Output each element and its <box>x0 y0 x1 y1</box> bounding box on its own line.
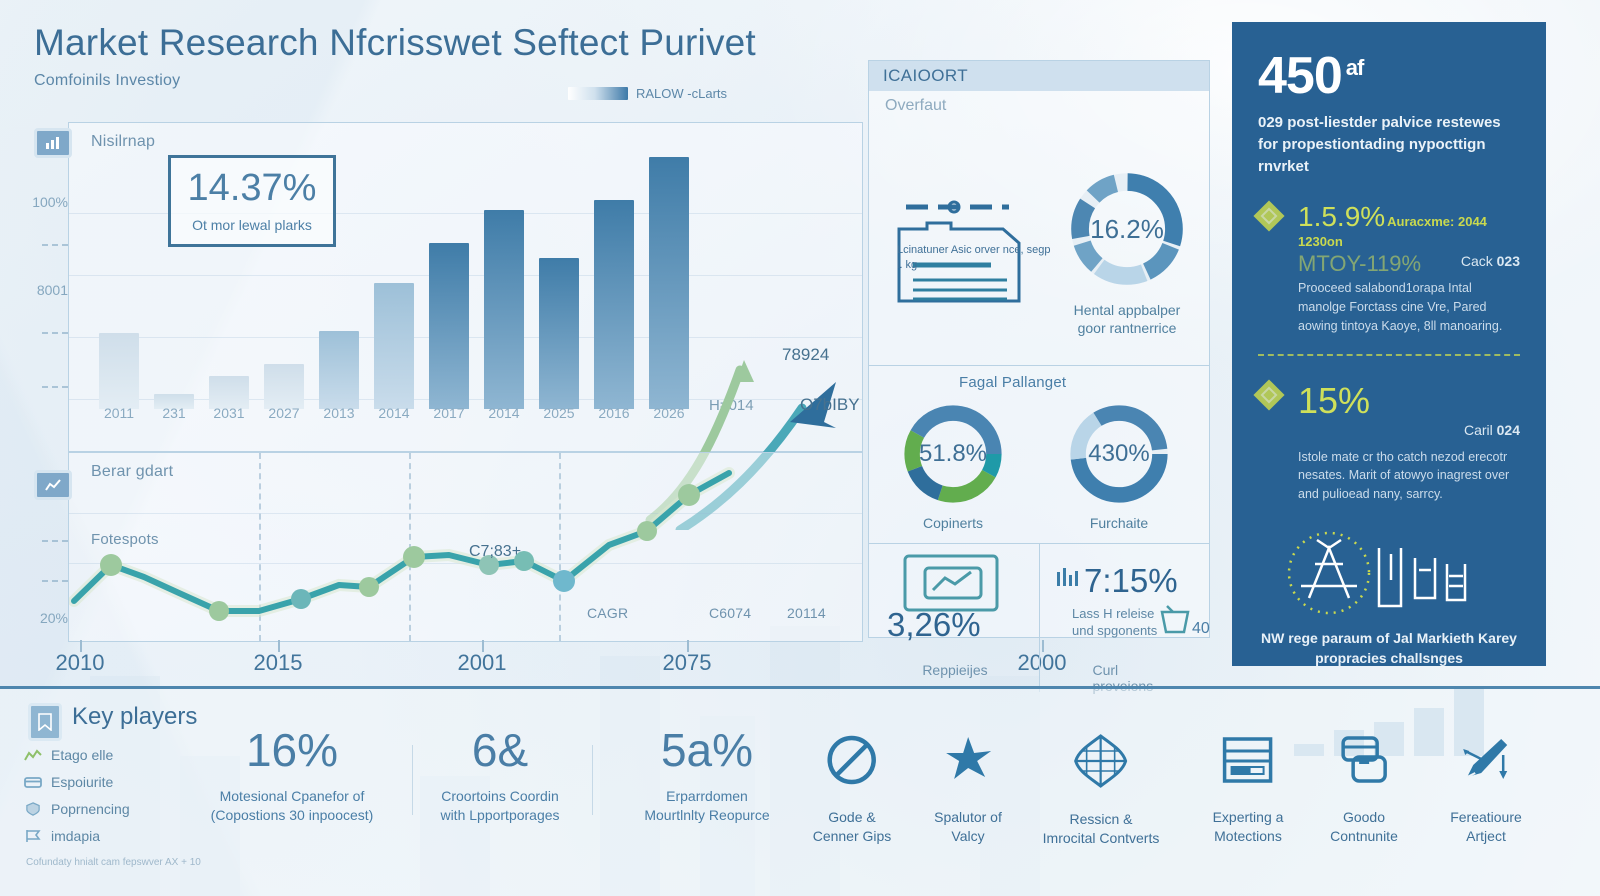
legend-gradient-swatch <box>568 87 628 100</box>
bar-item[interactable] <box>374 283 414 409</box>
donut-left-caption: Copinerts <box>923 514 983 532</box>
line-chart-panel[interactable]: Berar gdart Fotespots C7;83+ CAGR C6074 … <box>68 452 863 642</box>
y-axis-tick: 100% <box>8 194 68 210</box>
bar-x-label: 2011 <box>104 405 134 421</box>
sidebar-hero-number: 450 <box>1258 47 1342 105</box>
x-axis-label: 2001 <box>458 650 507 676</box>
icon-caption: Ressicn & Imrocital Contverts <box>1043 810 1160 848</box>
report-title: ICAIOORT <box>869 61 1209 91</box>
shield-icon <box>24 802 42 816</box>
footnote: Cofundaty hnialt cam fepswver AX + 10 <box>26 857 201 868</box>
donut-left-value: 51.8% <box>899 400 1007 508</box>
diamond-bullet-icon <box>1253 201 1284 232</box>
kpi-right-badge: 40 <box>1192 620 1210 638</box>
donut-main-value: 16.2% <box>1065 167 1189 291</box>
list-item-label: Poprnencing <box>51 801 130 817</box>
trend-icon <box>45 478 61 492</box>
y-axis-dash <box>42 540 68 542</box>
column-separator <box>592 745 593 815</box>
bar-x-label: 231 <box>162 405 185 421</box>
no-entry-icon <box>825 733 879 787</box>
star-burst-icon <box>941 733 995 787</box>
report-overview-section: Lcinatuner Asic orver nce, segp l. kg 16… <box>869 115 1209 365</box>
sidebar-stat-pct-line2: MTOY-119% <box>1298 251 1421 277</box>
bar-item[interactable] <box>319 331 359 409</box>
sidebar-stat-pct: 1.5.9% <box>1298 201 1385 233</box>
basket-icon <box>1158 602 1192 636</box>
stat-value: 6& <box>440 727 559 773</box>
pen-tool-icon <box>1459 733 1513 787</box>
x-axis-label: 2010 <box>56 650 105 676</box>
icon-column[interactable]: Spalutor of Valcy <box>934 733 1002 846</box>
report-donuts-section: Fagal Pallanget 51.8% Copinerts <box>869 365 1209 543</box>
list-item-label: Etago elle <box>51 747 113 763</box>
bookmark-icon <box>38 713 52 731</box>
list-item[interactable]: Etago elle <box>24 741 130 768</box>
kpi-right-value: 7:15% <box>1084 562 1178 600</box>
list-item[interactable]: Poprnencing <box>24 795 130 822</box>
bar-item[interactable] <box>484 210 524 409</box>
report-panel[interactable]: ICAIOORT Overfaut Lcinatuner Asic orver … <box>868 60 1210 638</box>
key-players-badge[interactable] <box>28 703 62 741</box>
bar-item[interactable] <box>264 364 304 409</box>
sidebar-stat-pct: 15% <box>1298 380 1370 422</box>
icon-column[interactable]: Fereatioure Artject <box>1450 733 1522 846</box>
kpi-left-value: 3,26% <box>887 606 981 644</box>
icon-column[interactable]: Gode & Cenner Gips <box>813 733 892 846</box>
y-axis-tick: 8001 <box>8 282 68 298</box>
diamond-bullet-icon <box>1253 379 1284 410</box>
column-separator <box>412 745 413 815</box>
callout-label: Ot mor lewal plarks <box>192 217 312 233</box>
chart-icon <box>45 136 61 150</box>
list-item-label: imdapia <box>51 828 100 844</box>
sidebar-stat-body: Prooceed salabond1orapa Intal manolge Fo… <box>1298 279 1520 335</box>
sidebar-stat-code: Caril 024 <box>1464 422 1520 438</box>
kpi-right-sub: Lass H releise und spgonents <box>1072 606 1157 640</box>
sidebar-footer-text: NW rege paraum of Jal Markieth Karey pro… <box>1258 628 1520 669</box>
donut-main-caption: Hental appbalper goor rantnerrice <box>1074 301 1181 337</box>
sidebar-stat-code: Cack 023 <box>1461 253 1520 269</box>
list-item[interactable]: imdapia <box>24 822 130 849</box>
icon-caption: Goodo Contnunite <box>1330 808 1398 846</box>
bar-x-label: 2027 <box>268 405 299 421</box>
report-section-label: Fagal Pallanget <box>959 374 1066 391</box>
x-axis-label: 2075 <box>663 650 712 676</box>
table-layout-icon <box>1221 733 1275 787</box>
bar-item[interactable] <box>594 200 634 409</box>
stat-caption: Croortoins Coordin with Lpportporages <box>440 787 559 825</box>
sidebar-hero-suffix: af <box>1346 55 1364 80</box>
sidebar-stat-body: Istole mate cr tho catch nezod erecotr n… <box>1298 448 1520 504</box>
kpi-right-cell[interactable]: 7:15% Lass H releise und spgonents 40 Cu… <box>1040 544 1211 692</box>
highlight-sidebar[interactable]: 450af 029 post-liestder palvice restewes… <box>1232 22 1546 666</box>
icon-column[interactable]: Experting a Motections <box>1213 733 1284 846</box>
bar-x-label: 2025 <box>543 405 574 421</box>
stat-caption: Motesional Cpanefor of (Copostions 30 in… <box>211 787 374 825</box>
key-players-title: Key players <box>72 703 197 731</box>
line-panel-badge[interactable] <box>34 470 72 500</box>
icon-caption: Fereatioure Artject <box>1450 808 1522 846</box>
report-subtitle: Overfaut <box>869 91 1209 115</box>
icon-caption: Spalutor of Valcy <box>934 808 1002 846</box>
stat-caption: Erparrdomen Mourtlnlty Reopurce <box>644 787 769 825</box>
bar-x-label: 2016 <box>598 405 629 421</box>
arrow-label-blue: O7bIBY <box>800 395 860 415</box>
line-annotation: C7;83+ <box>469 543 521 561</box>
donut-right-value: 430% <box>1065 400 1173 508</box>
sidebar-stat-row[interactable]: 15% Caril 024 Istole mate cr tho catch n… <box>1258 380 1520 504</box>
icon-column[interactable]: Ressicn & Imrocital Contverts <box>1043 733 1160 848</box>
page-header: Market Research Nfcrisswet Seftect Puriv… <box>34 22 874 90</box>
y-axis-dash <box>42 244 68 246</box>
stat-column[interactable]: 5a% Erparrdomen Mourtlnlty Reopurce <box>644 727 769 825</box>
stat-value: 5a% <box>644 727 769 773</box>
y-axis-dash <box>42 332 68 334</box>
cards-stack-icon <box>1337 733 1391 787</box>
bar-x-label: 2013 <box>323 405 354 421</box>
bars-panel-label: Nisilrnap <box>91 133 155 151</box>
inline-label-2: 20114 <box>787 605 826 621</box>
flag-icon <box>24 829 42 843</box>
arrow-label-green: 78924 <box>782 345 829 365</box>
bar-item[interactable] <box>99 333 139 409</box>
inline-label-1: C6074 <box>709 605 751 621</box>
inline-label-cagr: CAGR <box>587 605 628 621</box>
page-title: Market Research Nfcrisswet Seftect Puriv… <box>34 22 874 64</box>
bar-mini-icon <box>1054 566 1080 592</box>
stat-column[interactable]: 16% Motesional Cpanefor of (Copostions 3… <box>211 727 374 825</box>
list-item[interactable]: Espoiurite <box>24 768 130 795</box>
y-axis-dash <box>42 386 68 388</box>
stat-column[interactable]: 6& Croortoins Coordin with Lpportporages <box>440 727 559 825</box>
highlight-callout[interactable]: 14.37% Ot mor lewal plarks <box>168 155 336 247</box>
donut-left[interactable]: 51.8% <box>899 400 1007 508</box>
donut-main[interactable]: 16.2% <box>1065 167 1189 291</box>
stat-value: 16% <box>211 727 374 773</box>
bar-x-label: 2031 <box>213 405 244 421</box>
bar-x-label: 2014 <box>378 405 409 421</box>
chart-legend: RALOW -cLarts <box>568 86 727 101</box>
sidebar-divider <box>1258 354 1520 356</box>
sidebar-hero: 450af <box>1258 50 1520 102</box>
bars-panel-badge[interactable] <box>34 128 72 158</box>
sidebar-hero-subtitle: 029 post-liestder palvice restewes for p… <box>1258 112 1520 177</box>
page-subtitle: Comfoinils Investioy <box>34 72 874 90</box>
legend-label: RALOW -cLarts <box>636 86 727 101</box>
list-item-label: Espoiurite <box>51 774 113 790</box>
y-axis-dash <box>42 580 68 582</box>
globe-grid-icon <box>1073 733 1129 789</box>
bar-x-label: 2014 <box>488 405 519 421</box>
bar-item[interactable] <box>539 258 579 409</box>
sidebar-stat-row[interactable]: 1.5.9%Auracxme: 2044 1230on MTOY-119% Ca… <box>1258 201 1520 335</box>
bottom-summary-bar: Key players Etago elle Espoiurite Pop <box>0 686 1600 896</box>
callout-value: 14.37% <box>188 169 317 207</box>
kpi-left-caption: Reppieijes <box>922 662 987 678</box>
x-axis-label: 2015 <box>254 650 303 676</box>
donut-right[interactable]: 430% <box>1065 400 1173 508</box>
key-players-list: Etago elle Espoiurite Poprnencing im <box>24 741 130 849</box>
document-caption: Lcinatuner Asic orver nce, segp l. kg <box>897 243 1057 273</box>
bar-item[interactable] <box>429 243 469 409</box>
chart-line-icon <box>24 748 42 762</box>
kpi-left-cell[interactable]: 3,26% Reppieijes <box>869 544 1040 692</box>
icon-caption: Gode & Cenner Gips <box>813 808 892 846</box>
icon-caption: Experting a Motections <box>1213 808 1284 846</box>
report-kpi-section: 3,26% Reppieijes 7:15% Lass H releise un… <box>869 543 1209 691</box>
card-icon <box>24 775 42 789</box>
bar-x-label: 2017 <box>433 405 464 421</box>
donut-right-caption: Furchaite <box>1090 514 1148 532</box>
network-seal-icon <box>1279 528 1499 618</box>
y-axis-tick-line: 20% <box>8 610 68 626</box>
icon-column[interactable]: Goodo Contnunite <box>1330 733 1398 846</box>
